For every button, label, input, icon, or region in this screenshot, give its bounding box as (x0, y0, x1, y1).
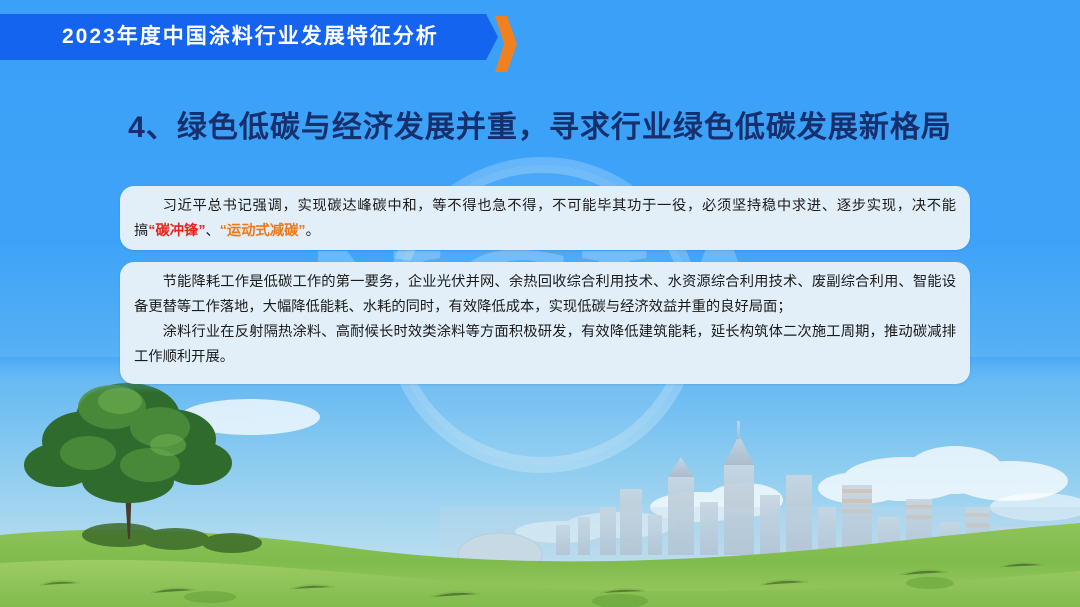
body-paragraph-2: 涂料行业在反射隔热涂料、高耐候长时效类涂料等方面积极研发，有效降低建筑能耗，延长… (134, 320, 956, 370)
body-paragraph-1: 节能降耗工作是低碳工作的第一要务，企业光伏并网、余热回收综合利用技术、水资源综合… (134, 270, 956, 320)
quote-run-3-orange: “运动式减碳” (220, 223, 306, 239)
quote-run-4: 。 (306, 223, 320, 239)
quote-run-1-red: “碳冲锋” (148, 223, 205, 239)
quote-box: 习近平总书记强调，实现碳达峰碳中和，等不得也急不得，不可能毕其功于一役，必须坚持… (120, 186, 970, 250)
landscape-image (0, 357, 1080, 607)
page-title: 4、绿色低碳与经济发展并重，寻求行业绿色低碳发展新格局 (0, 102, 1080, 146)
banner-title: 2023年度中国涂料行业发展特征分析 (62, 14, 439, 60)
title-banner: 2023年度中国涂料行业发展特征分析 (0, 14, 540, 60)
quote-run-2: 、 (205, 223, 219, 239)
slide-canvas: NCIA 2023年度中国涂料行业发展特征分析 4、绿色低碳与经济发展并重，寻求… (0, 0, 1080, 607)
body-box: 节能降耗工作是低碳工作的第一要务，企业光伏并网、余热回收综合利用技术、水资源综合… (120, 262, 970, 384)
quote-paragraph: 习近平总书记强调，实现碳达峰碳中和，等不得也急不得，不可能毕其功于一役，必须坚持… (134, 194, 956, 244)
